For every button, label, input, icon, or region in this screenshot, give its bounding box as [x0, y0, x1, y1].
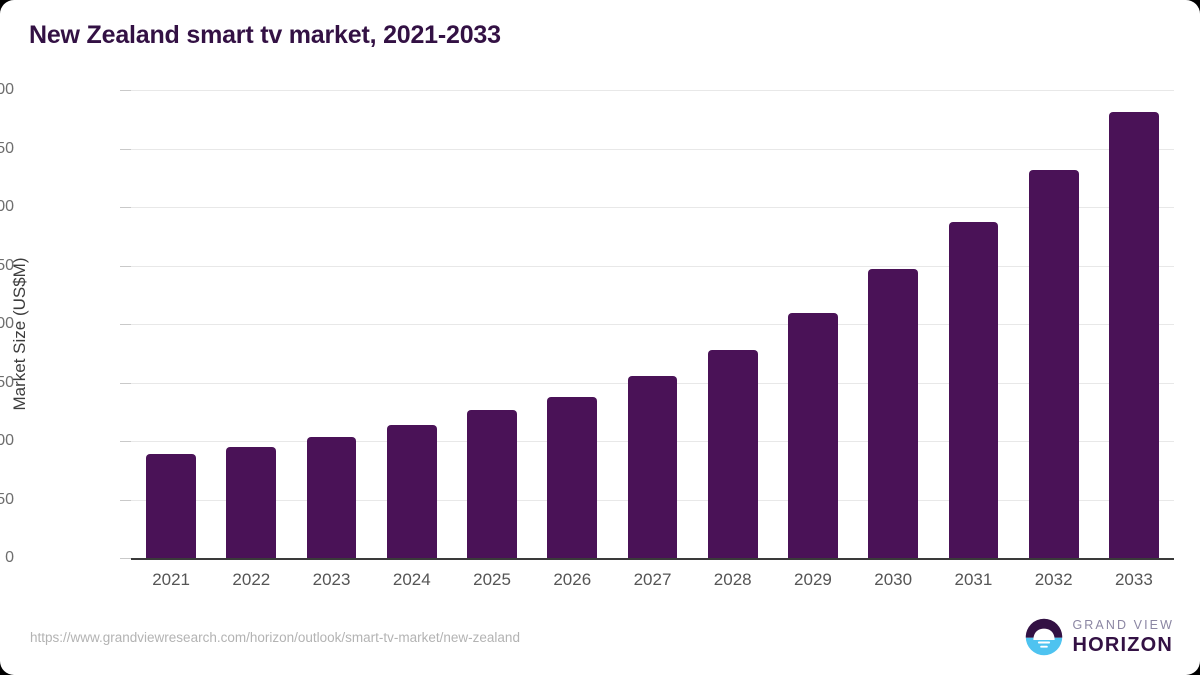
x-tick-label: 2033 — [1115, 570, 1153, 590]
y-tick-mark — [120, 149, 131, 150]
x-tick-label: 2024 — [393, 570, 431, 590]
y-tick-mark — [120, 441, 131, 442]
y-tick-label: 1500 — [0, 198, 14, 216]
x-tick-label: 2031 — [955, 570, 993, 590]
x-tick-label: 2030 — [874, 570, 912, 590]
bar[interactable] — [467, 410, 517, 558]
bar[interactable] — [708, 350, 758, 558]
bar[interactable] — [628, 376, 678, 558]
chart-page: New Zealand smart tv market, 2021-2033 M… — [0, 0, 1200, 675]
y-tick-mark — [120, 383, 131, 384]
y-tick-label: 750 — [0, 374, 14, 392]
logo-line-horizon: HORIZON — [1072, 635, 1174, 655]
x-axis-line — [131, 558, 1174, 560]
bar[interactable] — [788, 313, 838, 558]
source-url[interactable]: https://www.grandviewresearch.com/horizo… — [30, 630, 520, 645]
y-tick-mark — [120, 324, 131, 325]
y-tick-label: 1750 — [0, 140, 14, 158]
grand-view-horizon-logo-icon — [1025, 618, 1063, 656]
bar[interactable] — [1029, 170, 1079, 558]
y-tick-label: 1250 — [0, 257, 14, 275]
x-tick-label: 2028 — [714, 570, 752, 590]
page-title: New Zealand smart tv market, 2021-2033 — [29, 21, 501, 50]
x-tick-label: 2026 — [553, 570, 591, 590]
bar[interactable] — [1109, 112, 1159, 558]
x-tick-label: 2021 — [152, 570, 190, 590]
y-tick-mark — [120, 558, 131, 559]
bar[interactable] — [547, 397, 597, 558]
y-tick-mark — [120, 500, 131, 501]
bar[interactable] — [868, 269, 918, 558]
bar[interactable] — [226, 447, 276, 558]
bar[interactable] — [307, 437, 357, 558]
y-tick-label: 1000 — [0, 315, 14, 333]
y-tick-label: 500 — [0, 432, 14, 450]
logo-wordmark: GRAND VIEW HORIZON — [1072, 619, 1174, 655]
y-tick-label: 2000 — [0, 81, 14, 99]
bar[interactable] — [949, 222, 999, 558]
y-axis-title: Market Size (US$M) — [10, 134, 30, 534]
bar[interactable] — [387, 425, 437, 558]
x-tick-label: 2032 — [1035, 570, 1073, 590]
y-tick-label: 0 — [0, 549, 14, 567]
y-tick-mark — [120, 90, 131, 91]
x-tick-label: 2022 — [232, 570, 270, 590]
bar[interactable] — [146, 454, 196, 558]
x-tick-label: 2029 — [794, 570, 832, 590]
logo-line-grand-view: GRAND VIEW — [1072, 619, 1174, 632]
y-tick-mark — [120, 207, 131, 208]
bars-container — [131, 90, 1174, 558]
brand-logo[interactable]: GRAND VIEW HORIZON — [1025, 618, 1174, 656]
x-tick-label: 2023 — [313, 570, 351, 590]
x-tick-label: 2027 — [634, 570, 672, 590]
y-tick-label: 250 — [0, 491, 14, 509]
y-tick-mark — [120, 266, 131, 267]
x-tick-label: 2025 — [473, 570, 511, 590]
